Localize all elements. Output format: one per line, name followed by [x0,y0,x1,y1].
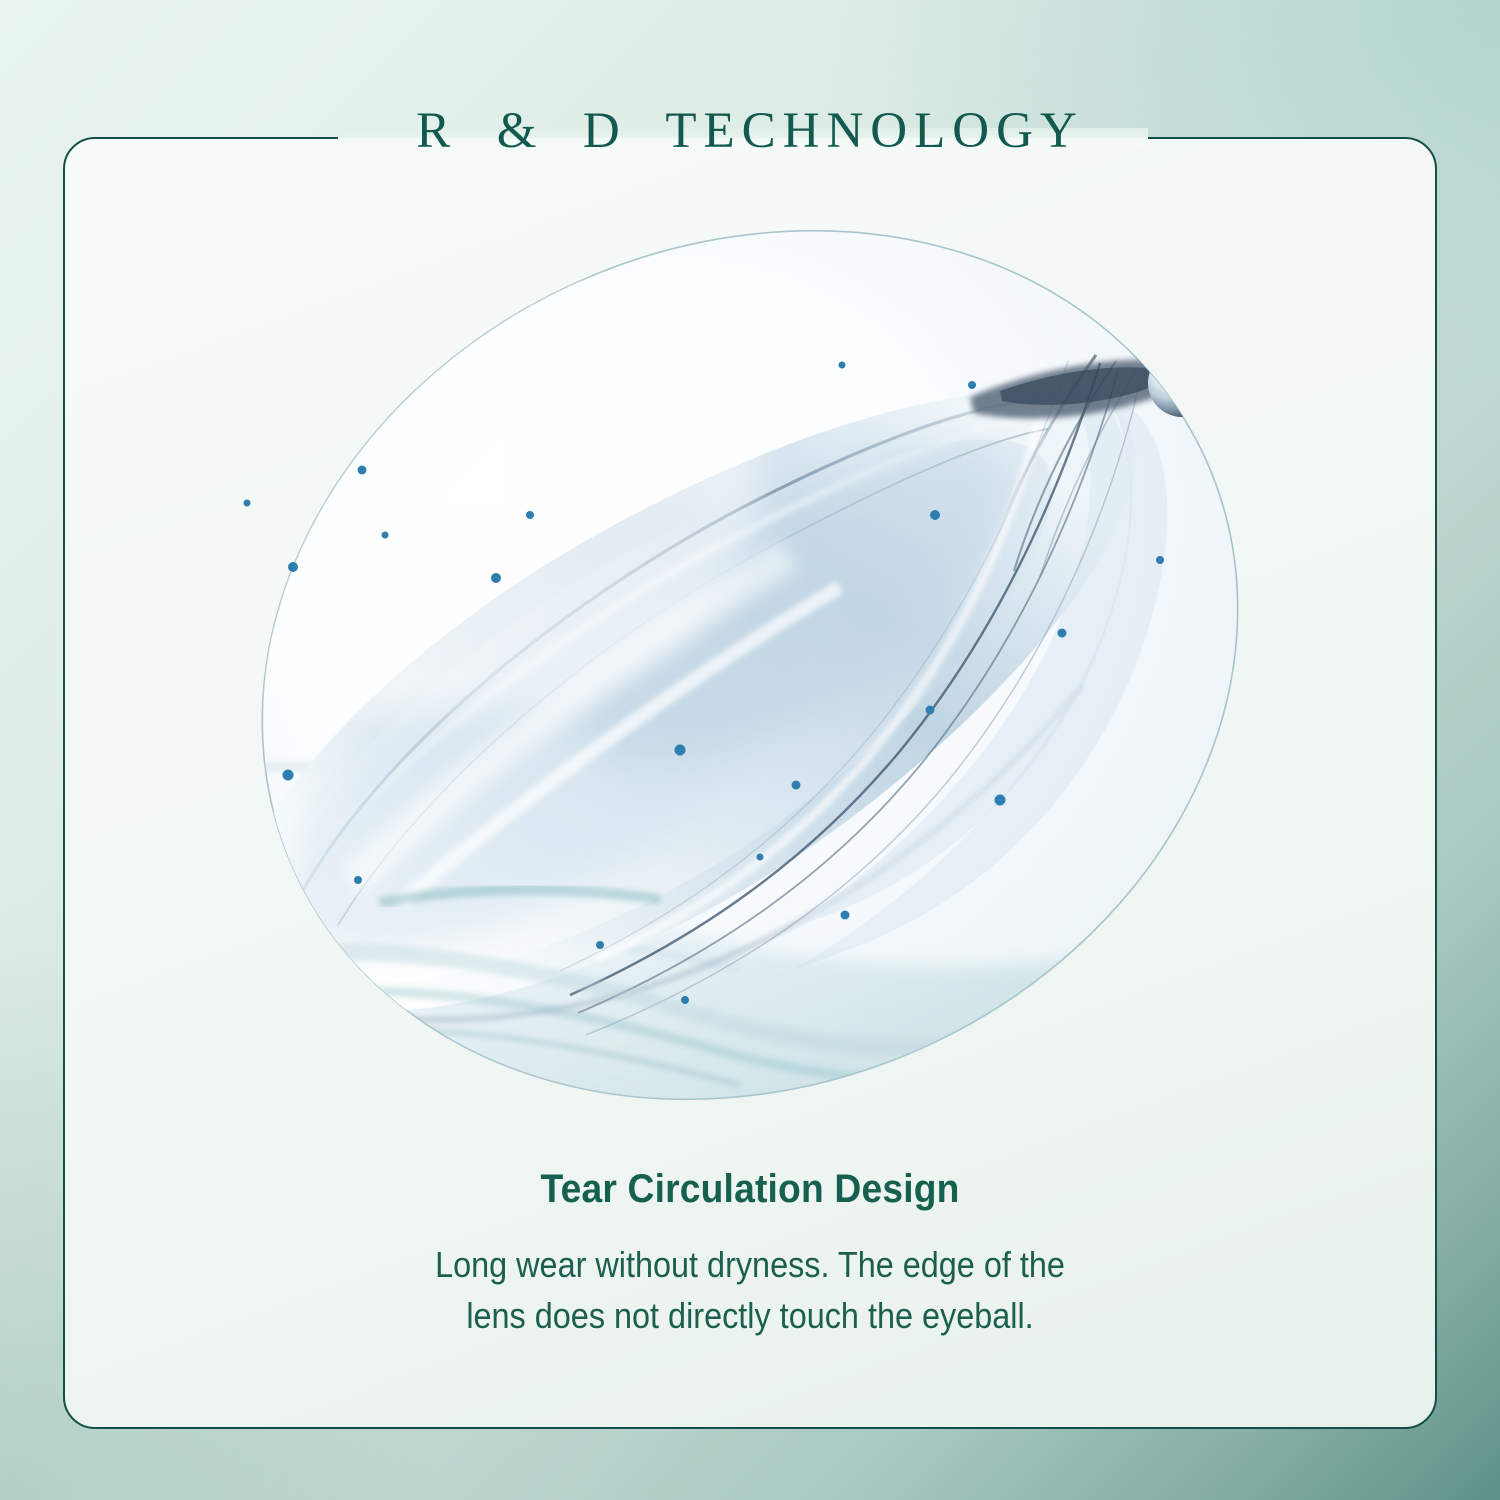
particle-dot [1156,556,1164,564]
particle-dot [288,562,298,572]
caption-block: Tear Circulation Design Long wear withou… [0,1165,1500,1341]
particle-dot [358,466,367,475]
particle-dot [675,745,686,756]
particle-dot [681,996,689,1004]
particle-dot [841,911,850,920]
particle-dot [354,876,362,884]
caption-body: Long wear without dryness. The edge of t… [75,1239,1425,1341]
caption-heading: Tear Circulation Design [53,1165,1448,1213]
page-title: R & D TECHNOLOGY [0,103,1500,159]
particle-dot [596,941,604,949]
particle-dot [995,795,1006,806]
particle-dot [926,706,935,715]
particle-dot [491,573,501,583]
particle-dot [382,532,389,539]
particle-dot [968,381,976,389]
particle-dot [244,500,251,507]
particle-dot [526,511,534,519]
poster-canvas: R & D TECHNOLOGY [0,0,1500,1500]
particle-dot [1058,629,1067,638]
particle-dot [792,781,801,790]
particle-dot [757,854,764,861]
particle-dot [839,362,846,369]
particle-dot [930,510,940,520]
particle-dot [283,770,294,781]
hero-illustration [100,185,1400,1145]
